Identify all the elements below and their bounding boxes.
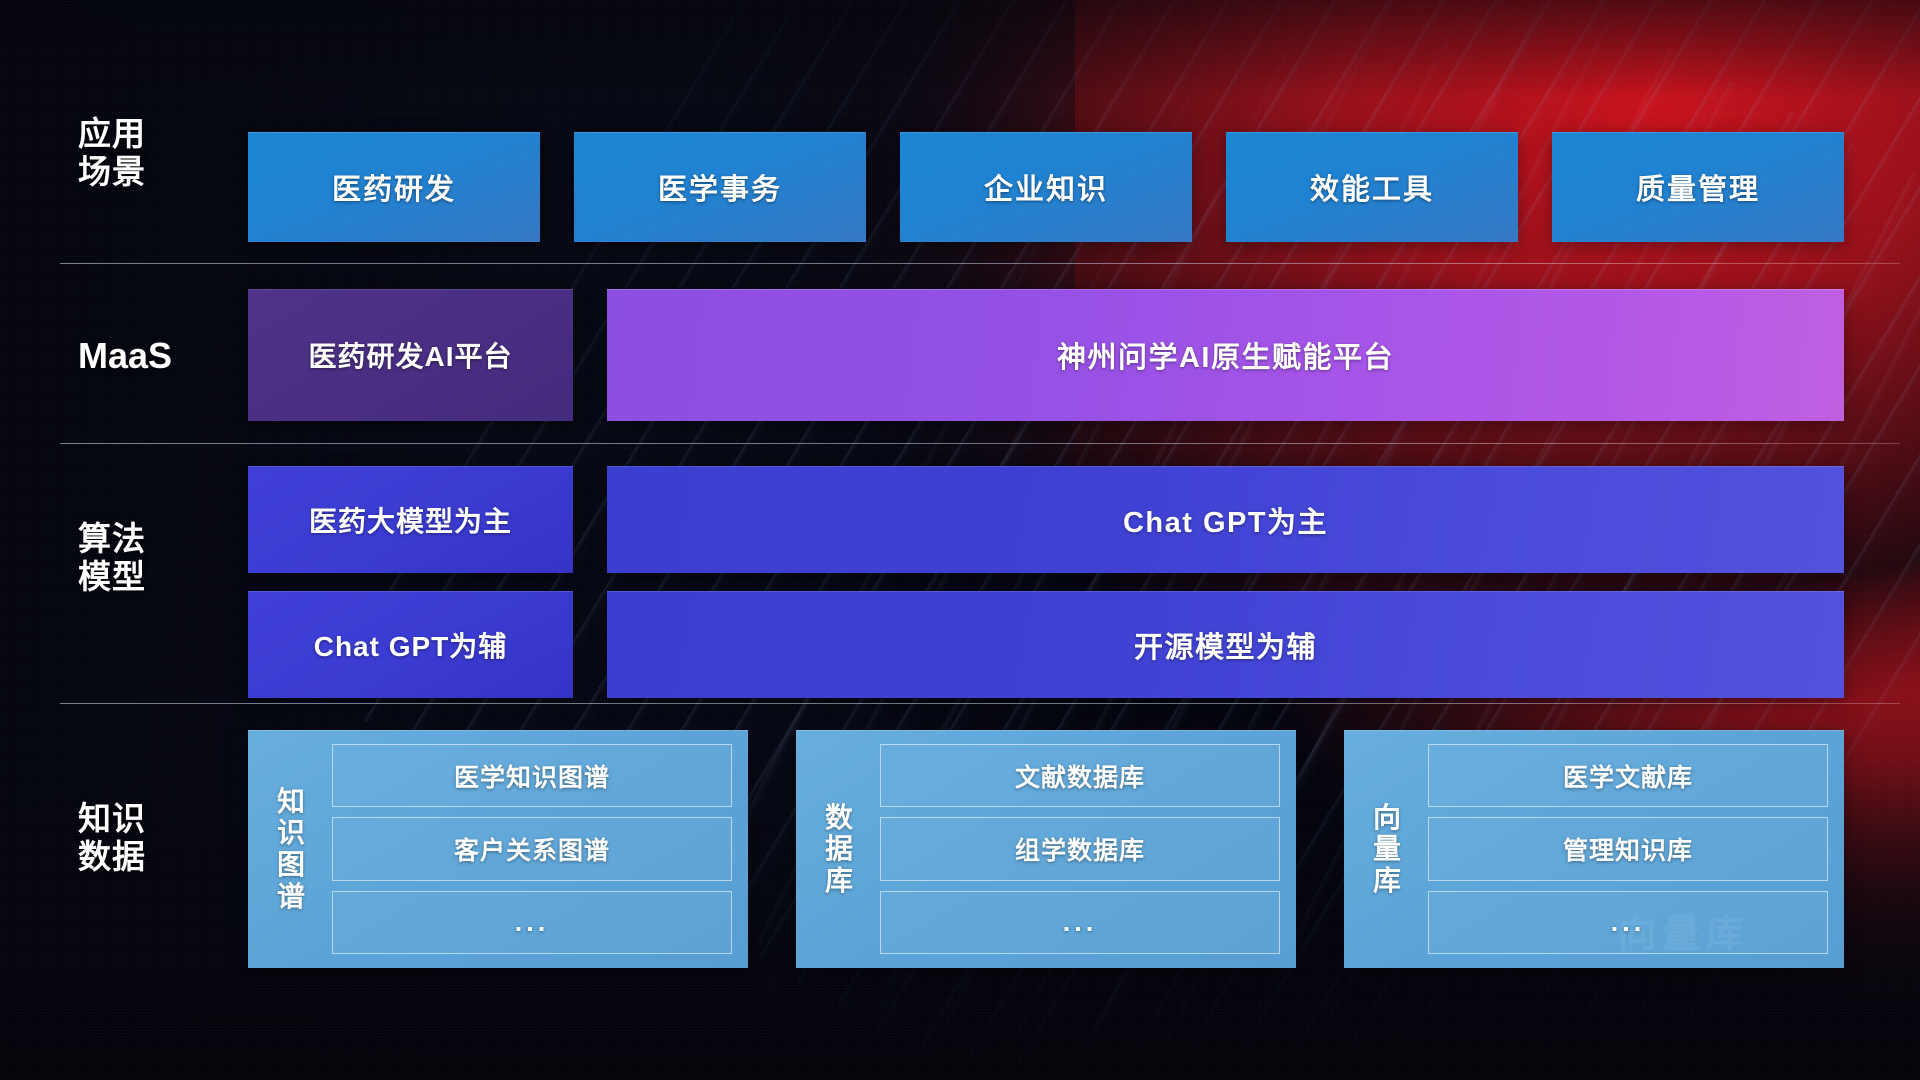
row-label-maas: MaaS bbox=[78, 335, 228, 377]
knowledge-group-title: 知识图谱 bbox=[264, 744, 318, 954]
algo-box-primary-chatgpt[interactable]: Chat GPT为主 bbox=[607, 466, 1844, 573]
knowledge-item[interactable]: 客户关系图谱 bbox=[332, 817, 732, 880]
knowledge-group-database[interactable]: 数据库 文献数据库 组学数据库 ... bbox=[796, 730, 1296, 968]
row-label-line-2: 数据 bbox=[78, 838, 228, 876]
knowledge-item-ellipsis[interactable]: ... bbox=[1428, 891, 1828, 954]
application-scenarios-boxes: 医药研发 医学事务 企业知识 效能工具 质量管理 bbox=[248, 132, 1844, 242]
divider-after-maas bbox=[60, 443, 1900, 444]
knowledge-item[interactable]: 医学文献库 bbox=[1428, 744, 1828, 807]
diagram-canvas: 应用 场景 医药研发 医学事务 企业知识 效能工具 质量管理 MaaS 医药研发… bbox=[0, 0, 1920, 1080]
algo-box-primary-medical-model[interactable]: 医药大模型为主 bbox=[248, 466, 573, 573]
scenario-box-1[interactable]: 医药研发 bbox=[248, 132, 540, 242]
algo-box-secondary-chatgpt[interactable]: Chat GPT为辅 bbox=[248, 591, 573, 698]
knowledge-group-item-list: 医学知识图谱 客户关系图谱 ... bbox=[332, 744, 732, 954]
knowledge-group-item-list: 医学文献库 管理知识库 ... bbox=[1428, 744, 1828, 954]
knowledge-item[interactable]: 组学数据库 bbox=[880, 817, 1280, 880]
knowledge-item[interactable]: 医学知识图谱 bbox=[332, 744, 732, 807]
maas-boxes: 医药研发AI平台 神州问学AI原生赋能平台 bbox=[248, 289, 1844, 421]
scenario-box-3[interactable]: 企业知识 bbox=[900, 132, 1192, 242]
scenario-box-2[interactable]: 医学事务 bbox=[574, 132, 866, 242]
knowledge-item[interactable]: 管理知识库 bbox=[1428, 817, 1828, 880]
maas-box-medical-ai-platform[interactable]: 医药研发AI平台 bbox=[248, 289, 573, 421]
knowledge-group-knowledge-graph[interactable]: 知识图谱 医学知识图谱 客户关系图谱 ... bbox=[248, 730, 748, 968]
knowledge-item[interactable]: 文献数据库 bbox=[880, 744, 1280, 807]
knowledge-group-title: 向量库 bbox=[1360, 744, 1414, 954]
scenario-box-4[interactable]: 效能工具 bbox=[1226, 132, 1518, 242]
row-label-application-scenarios: 应用 场景 bbox=[78, 115, 228, 192]
row-label-line-1: 知识 bbox=[78, 800, 228, 838]
row-label-algorithm-models: 算法 模型 bbox=[78, 520, 228, 597]
knowledge-data-groups: 知识图谱 医学知识图谱 客户关系图谱 ... 数据库 文献数据库 组学数据库 .… bbox=[248, 730, 1844, 968]
knowledge-group-title: 数据库 bbox=[812, 744, 866, 954]
knowledge-group-vector-database[interactable]: 向量库 医学文献库 管理知识库 ... bbox=[1344, 730, 1844, 968]
algorithm-model-line-2: Chat GPT为辅 开源模型为辅 bbox=[248, 591, 1844, 698]
knowledge-item-ellipsis[interactable]: ... bbox=[332, 891, 732, 954]
algorithm-model-line-1: 医药大模型为主 Chat GPT为主 bbox=[248, 466, 1844, 573]
row-label-line-1: 应用 bbox=[78, 115, 228, 153]
row-label-knowledge-data: 知识 数据 bbox=[78, 800, 228, 877]
divider-after-algorithm-models bbox=[60, 703, 1900, 704]
algo-box-secondary-opensource[interactable]: 开源模型为辅 bbox=[607, 591, 1844, 698]
row-label-line-1: 算法 bbox=[78, 520, 228, 558]
scenario-box-5[interactable]: 质量管理 bbox=[1552, 132, 1844, 242]
row-label-line-2: 模型 bbox=[78, 558, 228, 596]
maas-box-shenzhou-platform[interactable]: 神州问学AI原生赋能平台 bbox=[607, 289, 1844, 421]
knowledge-group-item-list: 文献数据库 组学数据库 ... bbox=[880, 744, 1280, 954]
knowledge-item-ellipsis[interactable]: ... bbox=[880, 891, 1280, 954]
algorithm-model-boxes: 医药大模型为主 Chat GPT为主 Chat GPT为辅 开源模型为辅 bbox=[248, 466, 1844, 698]
row-label-line-2: 场景 bbox=[78, 153, 228, 191]
divider-after-scenarios bbox=[60, 263, 1900, 264]
